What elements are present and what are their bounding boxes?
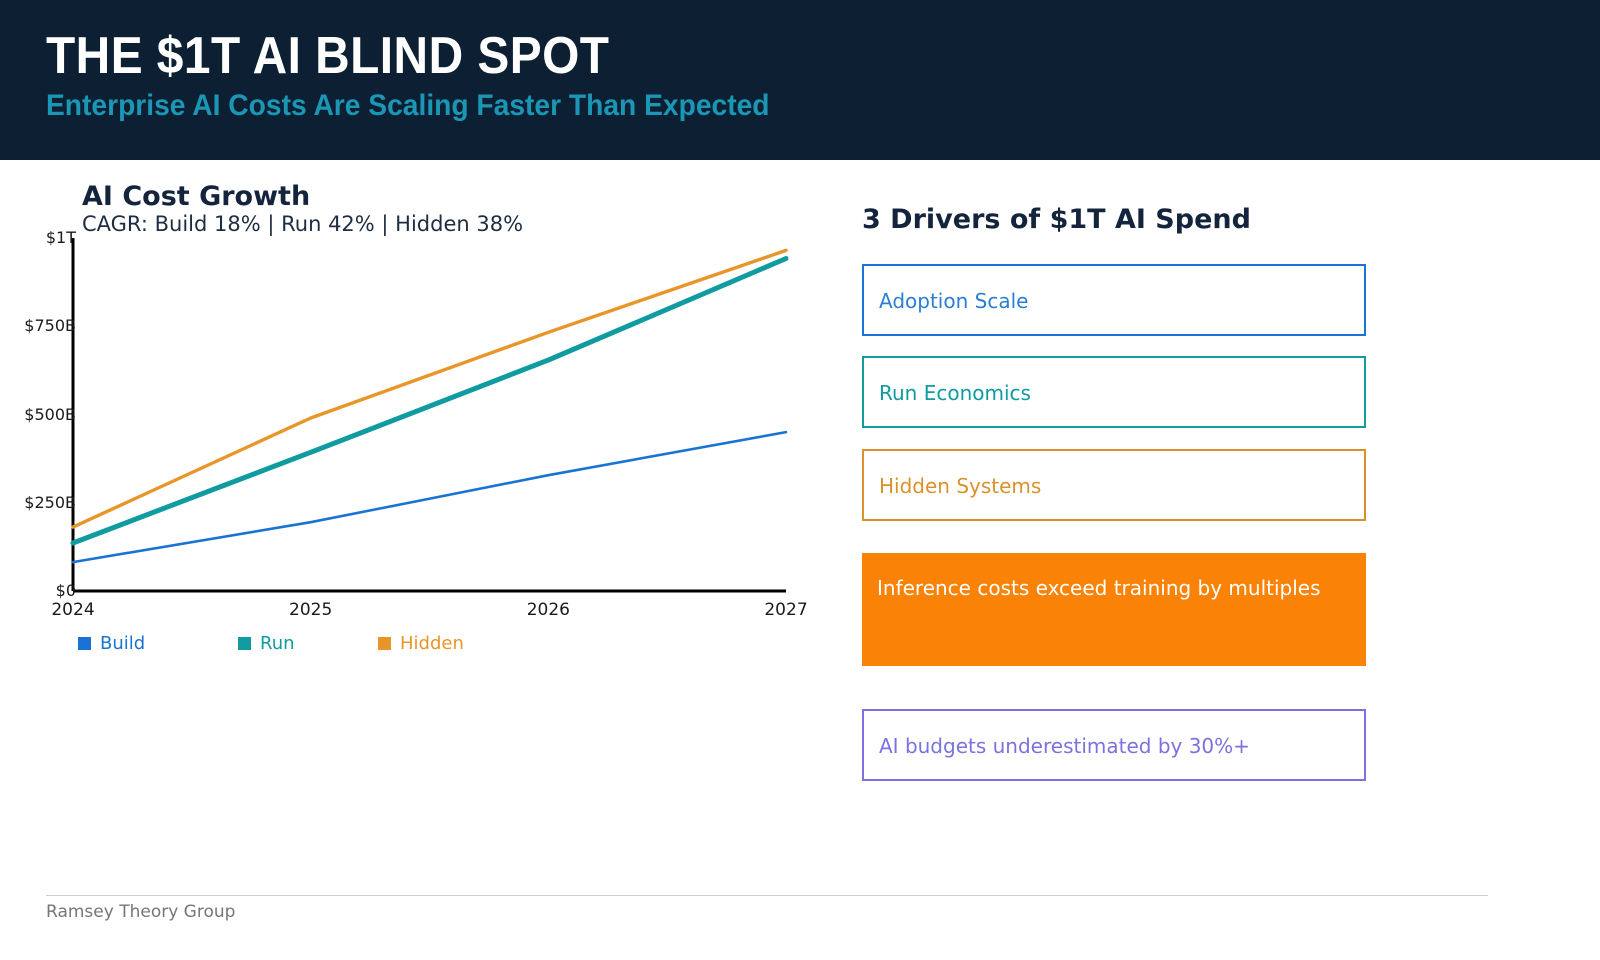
legend-swatch-icon <box>378 637 391 650</box>
driver-card-label: Hidden Systems <box>879 474 1041 498</box>
page-title: THE $1T AI BLIND SPOT <box>46 26 609 86</box>
series-line-hidden <box>73 250 786 527</box>
x-tick-label: 2024 <box>51 600 94 620</box>
legend-item-run[interactable]: Run <box>238 633 295 654</box>
driver-card[interactable]: Adoption Scale <box>862 264 1366 336</box>
legend-swatch-icon <box>238 637 251 650</box>
y-tick-label: $250B <box>18 493 76 512</box>
driver-card[interactable]: Inference costs exceed training by multi… <box>862 553 1366 666</box>
y-tick-label: $1T <box>18 228 76 247</box>
legend-label: Hidden <box>400 633 464 654</box>
driver-card-label: Run Economics <box>879 381 1031 405</box>
driver-card[interactable]: AI budgets underestimated by 30%+ <box>862 709 1366 781</box>
footer-attribution: Ramsey Theory Group <box>46 902 235 922</box>
header-band: THE $1T AI BLIND SPOT Enterprise AI Cost… <box>0 0 1600 160</box>
line-chart-plot <box>0 160 840 680</box>
y-tick-label: $500B <box>18 405 76 424</box>
driver-card[interactable]: Hidden Systems <box>862 449 1366 521</box>
driver-card[interactable]: Run Economics <box>862 356 1366 428</box>
drivers-heading: 3 Drivers of $1T AI Spend <box>862 204 1251 235</box>
legend-item-hidden[interactable]: Hidden <box>378 633 464 654</box>
driver-card-label: Adoption Scale <box>879 289 1028 313</box>
legend-label: Run <box>260 633 295 654</box>
chart-axes <box>73 238 786 591</box>
y-tick-label: $0 <box>18 581 76 600</box>
series-line-build <box>73 432 786 562</box>
y-tick-label: $750B <box>18 316 76 335</box>
chart-series-lines <box>73 250 786 562</box>
x-tick-label: 2027 <box>764 600 807 620</box>
page-subtitle: Enterprise AI Costs Are Scaling Faster T… <box>46 89 770 123</box>
x-tick-label: 2026 <box>527 600 570 620</box>
footer-divider <box>46 895 1488 896</box>
legend-label: Build <box>100 633 145 654</box>
driver-card-label: Inference costs exceed training by multi… <box>877 576 1321 600</box>
chart-panel: AI Cost Growth CAGR: Build 18% | Run 42%… <box>0 160 840 680</box>
series-line-run <box>73 259 786 544</box>
legend-swatch-icon <box>78 637 91 650</box>
driver-card-label: AI budgets underestimated by 30%+ <box>879 734 1250 758</box>
x-tick-label: 2025 <box>289 600 332 620</box>
legend-item-build[interactable]: Build <box>78 633 145 654</box>
